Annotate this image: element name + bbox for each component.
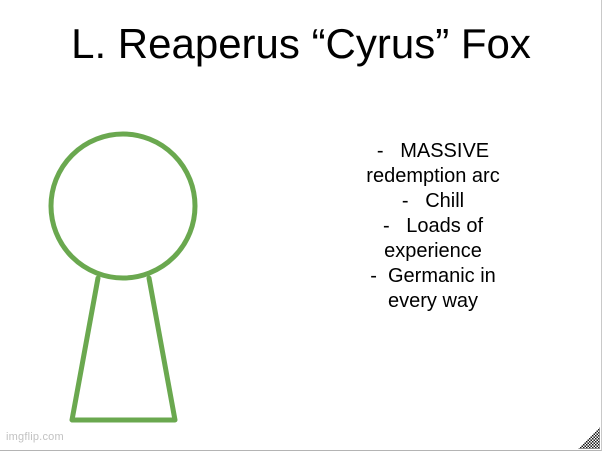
bullet-line: experience xyxy=(340,239,526,264)
bullet-line: redemption arc xyxy=(340,164,526,189)
meme-canvas: L. Reaperus “Cyrus” Fox - MASSIVE redemp… xyxy=(0,0,602,451)
bullet-line: - Chill xyxy=(340,189,526,214)
bullet-line: every way xyxy=(340,289,526,314)
bullet-text-block: - MASSIVE redemption arc - Chill - Loads… xyxy=(340,139,526,314)
resize-grip-icon[interactable] xyxy=(574,423,600,449)
imgflip-watermark: imgflip.com xyxy=(6,431,64,444)
bullet-line: - Germanic in xyxy=(340,264,526,289)
head-circle-icon xyxy=(51,134,195,278)
keyhole-figure-drawing xyxy=(36,118,216,438)
body-trapezoid-icon xyxy=(72,278,175,420)
bullet-line: - MASSIVE xyxy=(340,139,526,164)
page-title: L. Reaperus “Cyrus” Fox xyxy=(0,18,602,70)
bullet-line: - Loads of xyxy=(340,214,526,239)
